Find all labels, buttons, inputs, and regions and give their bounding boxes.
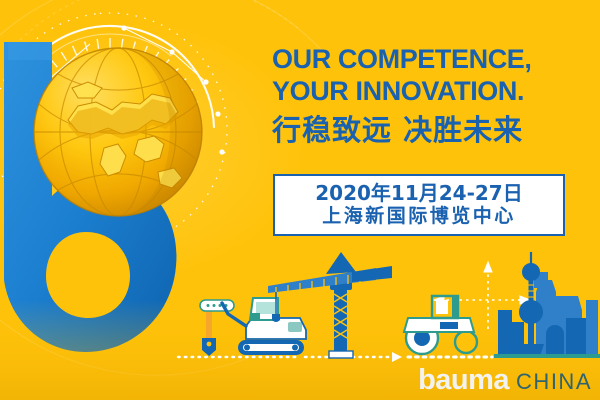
road-roller-icon — [404, 296, 477, 354]
event-info-banner: 2020年11月24-27日 上海新国际博览中心 — [273, 174, 565, 236]
headline-block: OUR COMPETENCE, YOUR INNOVATION. 行稳致远 决胜… — [272, 44, 582, 147]
event-venue: 上海新国际博览中心 — [322, 206, 516, 228]
headline-chinese: 行稳致远 决胜未来 — [272, 113, 582, 147]
poster-canvas: OUR COMPETENCE, YOUR INNOVATION. 行稳致远 决胜… — [0, 0, 600, 400]
shanghai-skyline — [494, 252, 600, 358]
headline-line-1: OUR COMPETENCE, — [272, 44, 582, 76]
pile-driver-icon — [200, 300, 234, 356]
logo-region-text: CHINA — [516, 371, 592, 393]
logo-brand-text: bauma — [418, 366, 509, 395]
bauma-china-logo: bauma CHINA — [418, 366, 592, 395]
event-date: 2020年11月24-27日 — [315, 182, 522, 204]
headline-line-2: YOUR INNOVATION. — [272, 76, 582, 108]
